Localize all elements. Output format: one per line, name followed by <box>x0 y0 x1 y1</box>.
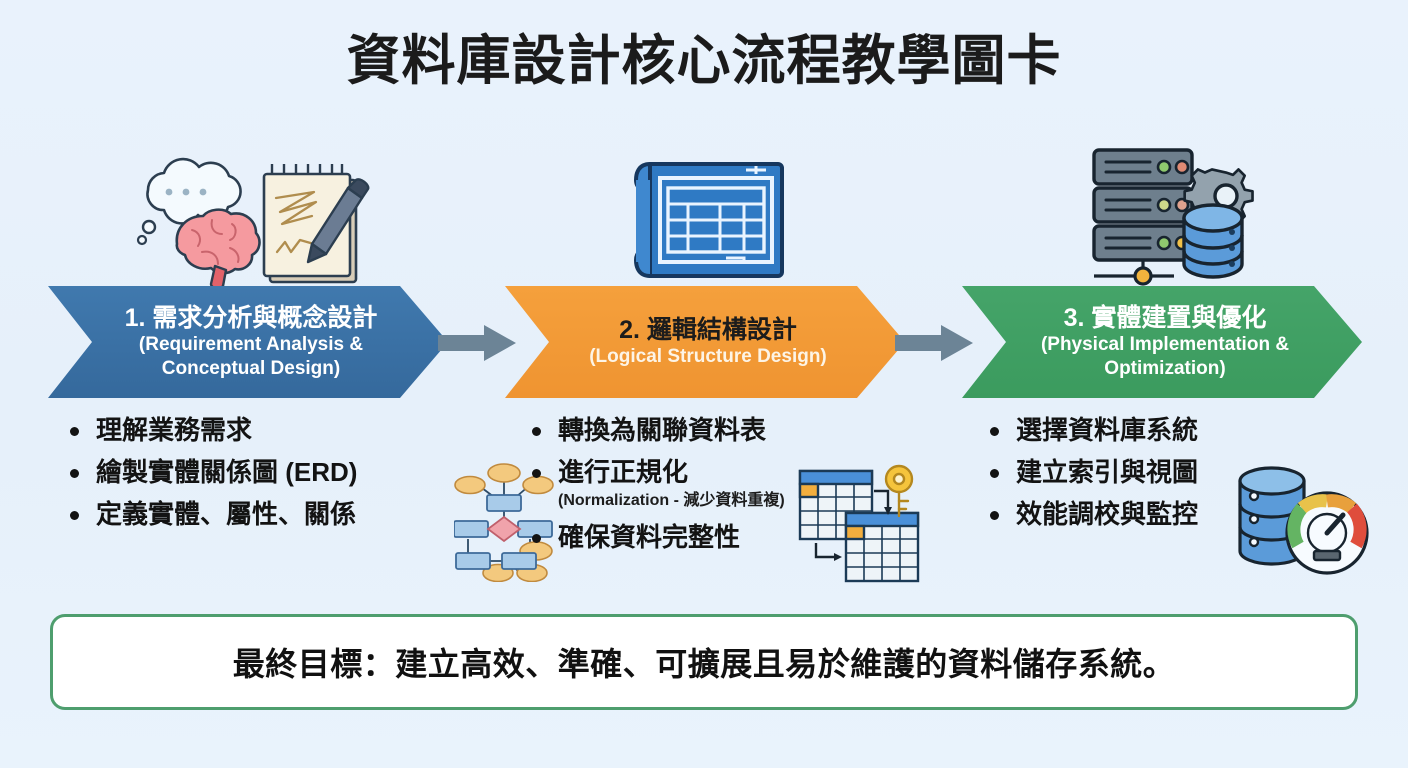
step-3-title-en-line2: Optimization) <box>1104 358 1225 380</box>
brain-thought-notepad-icon <box>120 148 370 288</box>
bullet-text: 確保資料完整性 <box>558 522 740 552</box>
server-gear-database-icon <box>1080 140 1270 288</box>
list-item: 定義實體、屬性、關係 <box>62 499 492 530</box>
list-item: 轉換為關聯資料表 <box>524 415 924 446</box>
bullet-text: 理解業務需求 <box>96 415 252 445</box>
step-banner-1[interactable]: 1. 需求分析與概念設計 (Requirement Analysis & Con… <box>48 286 448 398</box>
step-banner-2[interactable]: 2. 邏輯結構設計 (Logical Structure Design) <box>505 286 905 398</box>
database-performance-gauge-icon <box>1232 463 1374 575</box>
list-item: 理解業務需求 <box>62 415 492 446</box>
list-item: 選擇資料庫系統 <box>982 415 1372 446</box>
step-1-title-en-line1: (Requirement Analysis & <box>139 334 363 356</box>
bullet-text: 繪製實體關係圖 (ERD) <box>96 457 357 487</box>
step-1-title-en-line2: Conceptual Design) <box>162 358 340 380</box>
step-3-content: 選擇資料庫系統 建立索引與視圖 效能調校與監控 <box>982 415 1372 542</box>
step-banner-3[interactable]: 3. 實體建置與優化 (Physical Implementation & Op… <box>962 286 1362 398</box>
step-1-bullet-list: 理解業務需求 繪製實體關係圖 (ERD) 定義實體、屬性、關係 <box>62 415 492 531</box>
bullet-text: 定義實體、屬性、關係 <box>96 499 356 529</box>
final-goal-text: 最終目標：建立高效、準確、可擴展且易於維護的資料儲存系統。 <box>233 639 1176 685</box>
page-title: 資料庫設計核心流程教學圖卡 <box>0 30 1408 92</box>
bullet-text: 選擇資料庫系統 <box>1016 415 1198 445</box>
bullet-text: 進行正規化 <box>558 457 688 487</box>
step-1-title-zh: 1. 需求分析與概念設計 <box>125 304 378 332</box>
arrow-step2-to-step3 <box>895 325 973 361</box>
step-1-content: 理解業務需求 繪製實體關係圖 (ERD) 定義實體、屬性、關係 <box>62 415 492 542</box>
step-2-title-en-line1: (Logical Structure Design) <box>589 346 827 368</box>
arrow-step1-to-step2 <box>438 325 516 361</box>
infographic-canvas: 資料庫設計核心流程教學圖卡 <box>0 0 1408 768</box>
final-goal-banner: 最終目標：建立高效、準確、可擴展且易於維護的資料儲存系統。 <box>50 614 1358 710</box>
step-2-title-zh: 2. 邏輯結構設計 <box>619 316 797 344</box>
list-item: 繪製實體關係圖 (ERD) <box>62 457 492 488</box>
blueprint-table-icon <box>620 150 800 290</box>
bullet-text: 建立索引與視圖 <box>1016 457 1198 487</box>
bullet-text: 轉換為關聯資料表 <box>558 415 766 445</box>
step-3-title-zh: 3. 實體建置與優化 <box>1064 304 1267 332</box>
bullet-text: 效能調校與監控 <box>1016 499 1198 529</box>
step-3-title-en-line1: (Physical Implementation & <box>1041 334 1289 356</box>
icon-row <box>0 140 1408 288</box>
normalization-tables-key-icon <box>796 459 921 584</box>
step-2-content: 轉換為關聯資料表 進行正規化 (Normalization - 減少資料重複) … <box>524 415 924 564</box>
